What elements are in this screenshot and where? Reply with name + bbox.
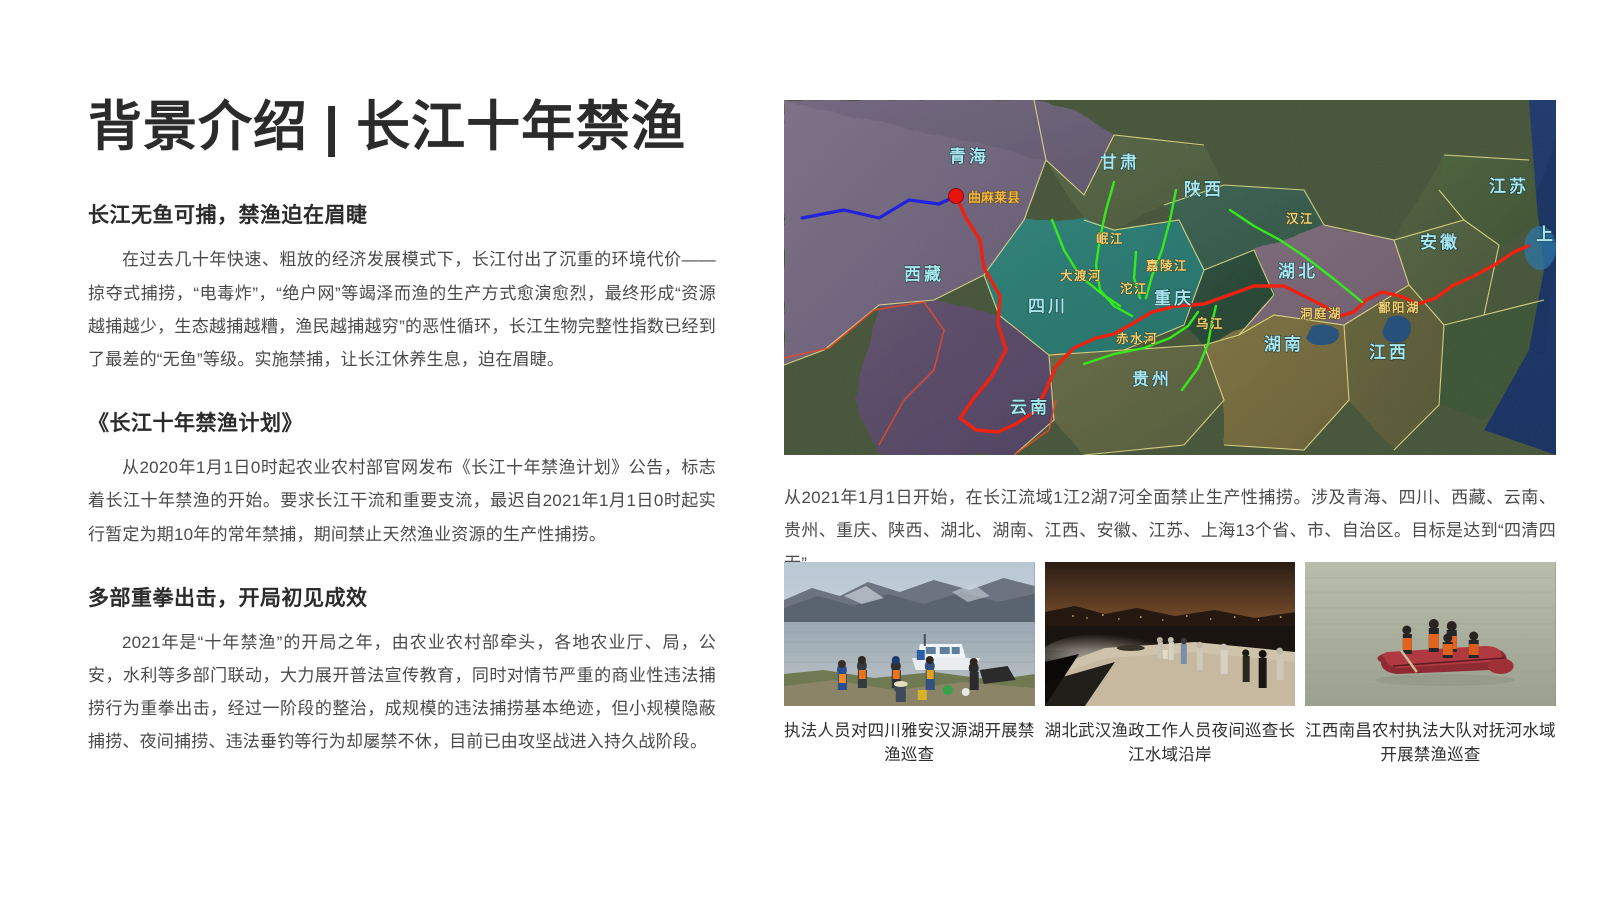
svg-text:大渡河: 大渡河: [1060, 268, 1102, 283]
section-body: 2021年是“十年禁渔”的开局之年，由农业农村部牵头，各地农业厅、局，公安，水利…: [88, 626, 716, 759]
photo-caption: 执法人员对四川雅安汉源湖开展禁渔巡查: [784, 720, 1035, 768]
svg-text:云南: 云南: [1010, 397, 1050, 417]
svg-text:西藏: 西藏: [904, 265, 944, 284]
yangtze-basin-map: 曲麻莱县 青海 甘肃 陕西 西藏 四川 云南 贵州 重庆 湖北 湖南 江西 安徽…: [784, 100, 1556, 455]
svg-text:沱江: 沱江: [1120, 281, 1148, 296]
section-fish-depletion: 长江无鱼可捕，禁渔迫在眉睫 在过去几十年快速、粗放的经济发展模式下，长江付出了沉…: [88, 202, 716, 376]
photo-inflatable-boat-patrol: [1305, 562, 1556, 706]
section-enforcement-results: 多部重拳出击，开局初见成效 2021年是“十年禁渔”的开局之年，由农业农村部牵头…: [88, 585, 716, 759]
photo-row: 执法人员对四川雅安汉源湖开展禁渔巡查: [784, 562, 1556, 768]
map-shade-overlay: [784, 100, 1556, 455]
svg-text:安徽: 安徽: [1420, 232, 1460, 252]
svg-text:湖南: 湖南: [1264, 334, 1304, 354]
photo-night-riverbank-patrol: [1045, 562, 1296, 706]
svg-text:汉江: 汉江: [1286, 211, 1314, 226]
map-canvas: 曲麻莱县 青海 甘肃 陕西 西藏 四川 云南 贵州 重庆 湖北 湖南 江西 安徽…: [784, 100, 1556, 455]
svg-text:四川: 四川: [1028, 297, 1068, 316]
svg-text:江西: 江西: [1369, 343, 1409, 362]
svg-text:赤水河: 赤水河: [1116, 331, 1158, 346]
svg-text:上海: 上海: [1536, 224, 1556, 244]
svg-text:陕西: 陕西: [1184, 179, 1224, 199]
svg-text:鄱阳湖: 鄱阳湖: [1377, 300, 1420, 315]
svg-text:江苏: 江苏: [1489, 176, 1529, 196]
photo-3-image: [1305, 562, 1556, 706]
svg-text:重庆: 重庆: [1154, 288, 1194, 308]
svg-text:甘肃: 甘肃: [1100, 152, 1140, 172]
photo-cell: 江西南昌农村执法大队对抚河水域开展禁渔巡查: [1305, 562, 1556, 768]
map-marker-label: 曲麻莱县: [968, 190, 1020, 205]
photo-caption: 江西南昌农村执法大队对抚河水域开展禁渔巡查: [1305, 720, 1556, 768]
svg-text:湖北: 湖北: [1278, 262, 1318, 281]
section-heading: 多部重拳出击，开局初见成效: [88, 585, 716, 612]
photo-1-image: [784, 562, 1035, 706]
page-title: 背景介绍 | 长江十年禁渔: [88, 96, 716, 158]
section-heading: 长江无鱼可捕，禁渔迫在眉睫: [88, 202, 716, 229]
svg-text:岷江: 岷江: [1096, 231, 1124, 246]
svg-text:贵州: 贵州: [1132, 369, 1172, 389]
photo-daytime-lake-patrol: [784, 562, 1035, 706]
section-body: 从2020年1月1日0时起农业农村部官网发布《长江十年禁渔计划》公告，标志着长江…: [88, 451, 716, 550]
section-heading: 《长江十年禁渔计划》: [88, 410, 716, 437]
section-ten-year-plan: 《长江十年禁渔计划》 从2020年1月1日0时起农业农村部官网发布《长江十年禁渔…: [88, 410, 716, 551]
svg-text:嘉陵江: 嘉陵江: [1145, 258, 1188, 273]
section-body: 在过去几十年快速、粗放的经济发展模式下，长江付出了沉重的环境代价——掠夺式捕捞，…: [88, 243, 716, 376]
map-marker-qumalai[interactable]: [949, 189, 964, 204]
photo-cell: 湖北武汉渔政工作人员夜间巡查长江水域沿岸: [1045, 562, 1296, 768]
photo-cell: 执法人员对四川雅安汉源湖开展禁渔巡查: [784, 562, 1035, 768]
svg-text:乌江: 乌江: [1196, 316, 1224, 331]
left-text-column: 背景介绍 | 长江十年禁渔 长江无鱼可捕，禁渔迫在眉睫 在过去几十年快速、粗放的…: [88, 96, 716, 759]
svg-text:洞庭湖: 洞庭湖: [1300, 306, 1342, 321]
right-media-column: 曲麻莱县 青海 甘肃 陕西 西藏 四川 云南 贵州 重庆 湖北 湖南 江西 安徽…: [784, 100, 1556, 597]
photo-caption: 湖北武汉渔政工作人员夜间巡查长江水域沿岸: [1045, 720, 1296, 768]
svg-text:青海: 青海: [949, 146, 989, 166]
photo-2-image: [1045, 562, 1296, 706]
